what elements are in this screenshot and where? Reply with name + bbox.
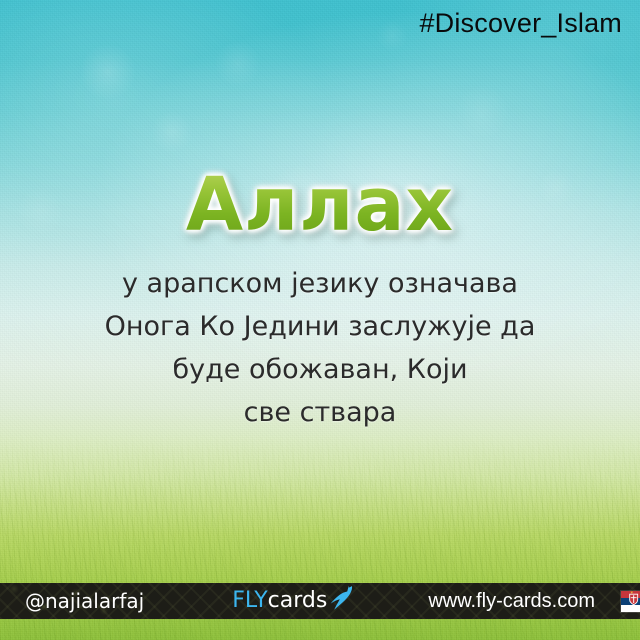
brand-name-secondary: cards bbox=[268, 590, 328, 612]
body-line-3: буде обожаван, Који bbox=[40, 348, 600, 391]
social-handle[interactable]: @najialarfaj bbox=[25, 589, 144, 613]
hashtag-label: #Discover_Islam bbox=[419, 8, 622, 39]
brand-name-primary: FLY bbox=[232, 590, 267, 612]
bird-icon bbox=[328, 585, 356, 611]
brand-logo[interactable]: FLY cards bbox=[232, 590, 356, 612]
body-text: у арапском језику означава Онога Ко Једи… bbox=[0, 262, 640, 434]
discover-islam-card: #Discover_Islam Аллах у арапском језику … bbox=[0, 0, 640, 640]
title-container: Аллах bbox=[0, 168, 640, 242]
footer-bar: @najialarfaj FLY cards www.fly-cards.com bbox=[0, 583, 640, 619]
body-line-2: Онога Ко Једини заслужује да bbox=[40, 305, 600, 348]
body-line-1: у арапском језику означава bbox=[40, 262, 600, 305]
page-title: Аллах bbox=[186, 168, 454, 242]
serbia-flag-icon bbox=[621, 591, 640, 612]
body-line-4: све ствара bbox=[40, 391, 600, 434]
website-url[interactable]: www.fly-cards.com bbox=[428, 590, 595, 613]
